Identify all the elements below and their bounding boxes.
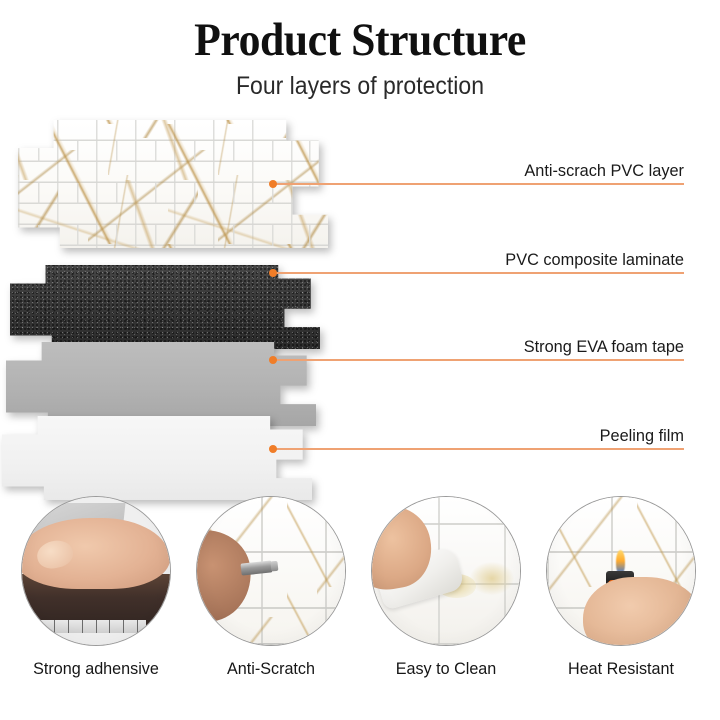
page-title: Product Structure — [25, 12, 695, 68]
feature-caption: Easy to Clean — [370, 658, 522, 680]
page-subtitle: Four layers of protection — [29, 70, 691, 102]
feature-caption: Anti-Scratch — [195, 658, 347, 680]
feature-anti-scratch: Anti-Scratch — [191, 496, 351, 680]
layer-surface-grey — [6, 342, 316, 426]
feature-heat-resistant: Heat Resistant — [541, 496, 701, 680]
layer-surface-film — [2, 416, 312, 500]
leader-line-2 — [273, 272, 684, 274]
layer-label-anti-scratch-pvc: Anti-scrach PVC layer — [338, 160, 684, 182]
feature-photo-key-scratching-tile — [196, 496, 346, 646]
feature-photo-cloth-wiping-tile — [371, 496, 521, 646]
feature-row: Strong adhensive Anti-Scratch — [0, 496, 720, 720]
leader-dot-icon — [269, 445, 277, 453]
layer-eva-foam-tape — [10, 265, 320, 349]
layer-peeling-film — [2, 416, 312, 500]
leader-line-3 — [273, 359, 684, 361]
layer-label-pvc-composite: PVC composite laminate — [338, 249, 684, 271]
leader-line-1 — [273, 183, 684, 185]
product-structure-infographic: Product Structure Four layers of protect… — [0, 0, 720, 720]
layer-label-eva-foam-tape: Strong EVA foam tape — [338, 336, 684, 358]
feature-caption: Heat Resistant — [545, 658, 697, 680]
feature-easy-to-clean: Easy to Clean — [366, 496, 526, 680]
layer-grey-backing — [6, 342, 316, 426]
feature-photo-lighter-flame-on-tile — [546, 496, 696, 646]
feature-photo-thumb-pressing-tile — [21, 496, 171, 646]
feature-caption: Strong adhensive — [20, 658, 172, 680]
leader-line-4 — [273, 448, 684, 450]
leader-dot-icon — [269, 180, 277, 188]
layer-surface-foam — [10, 265, 320, 349]
feature-strong-adhesive: Strong adhensive — [16, 496, 176, 680]
leader-dot-icon — [269, 269, 277, 277]
layer-label-peeling-film: Peeling film — [338, 425, 684, 447]
leader-dot-icon — [269, 356, 277, 364]
